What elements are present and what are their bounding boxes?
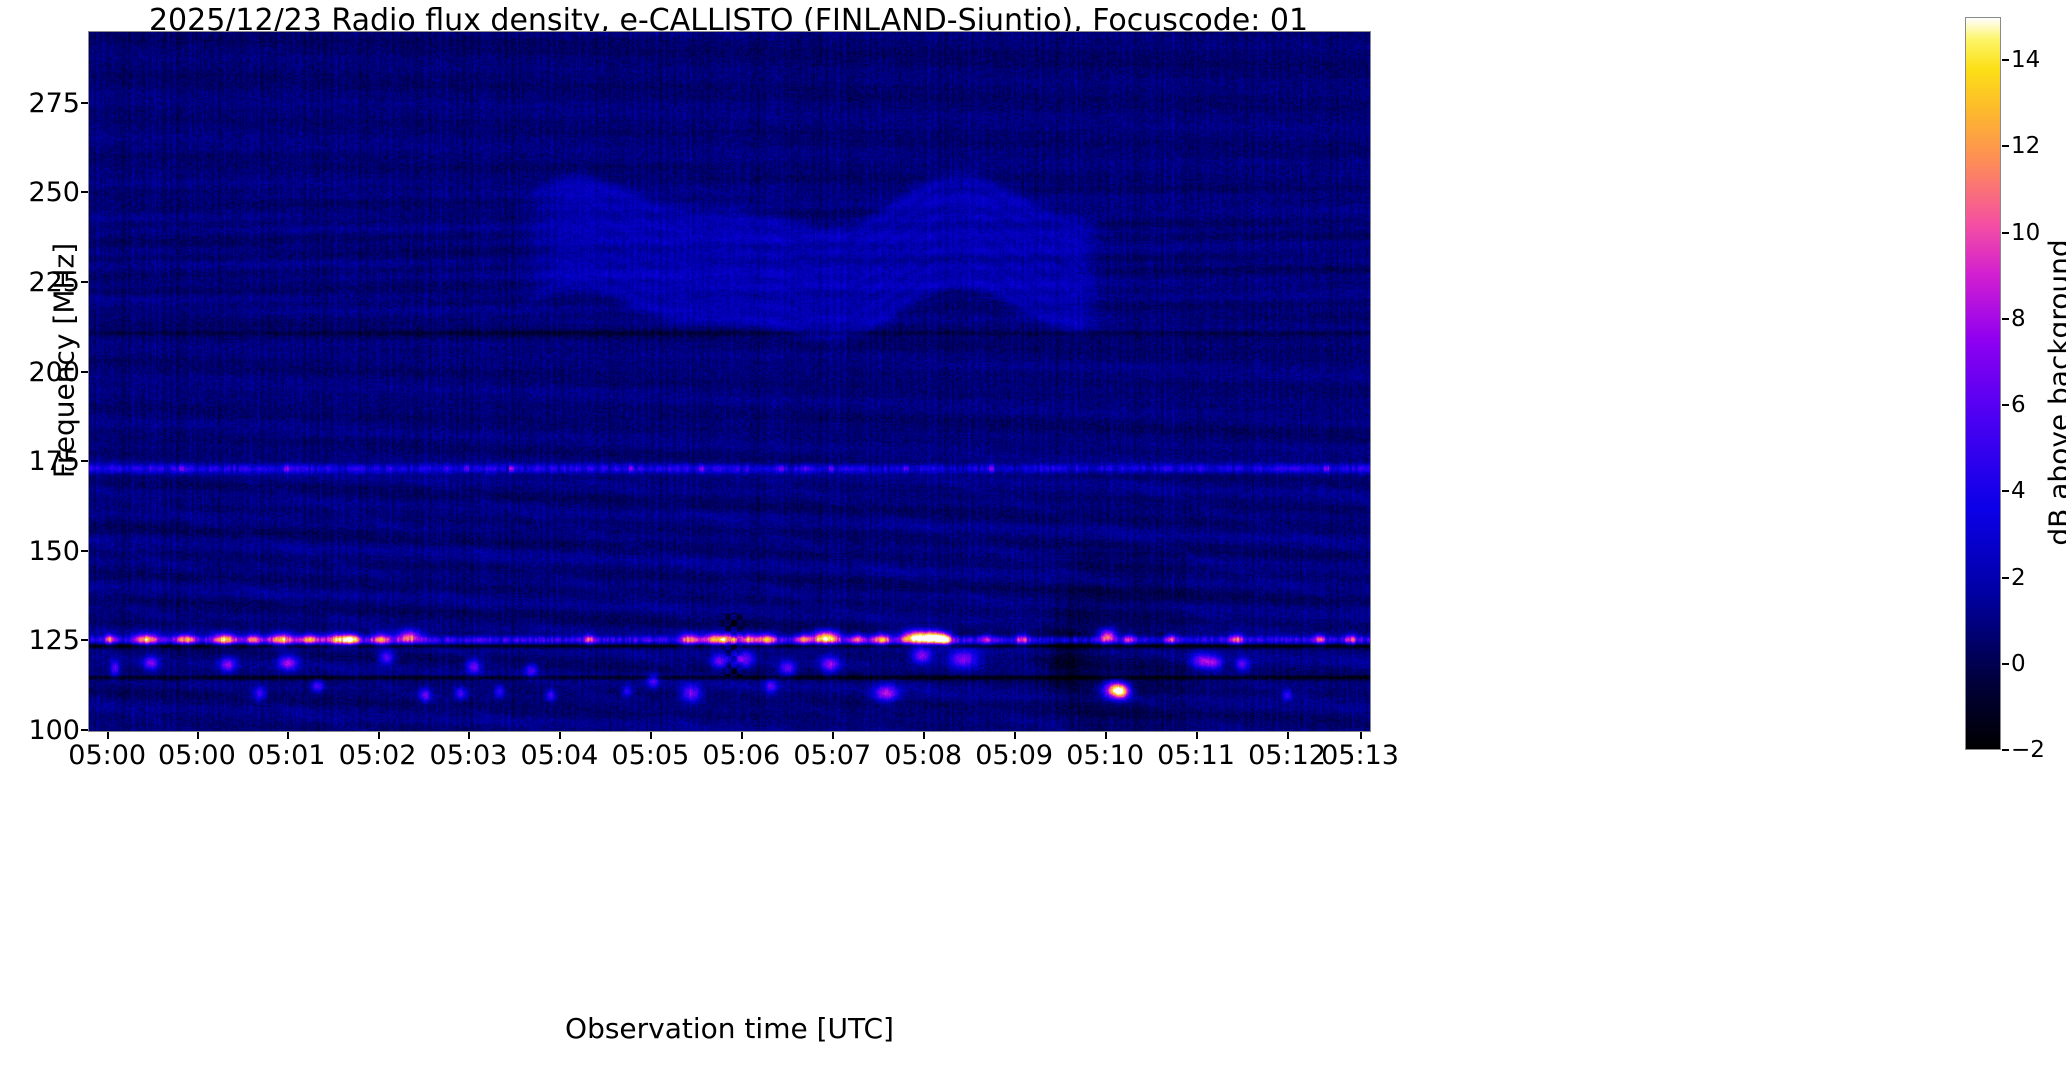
colorbar-tick-mark [2002, 404, 2009, 406]
spectrogram-heatmap[interactable] [89, 32, 1370, 731]
colorbar-tick-mark [2002, 490, 2009, 492]
y-axis-tick-mark [81, 102, 88, 104]
y-axis-tick-mark [81, 371, 88, 373]
colorbar-tick-label: 6 [2011, 394, 2026, 417]
colorbar-tick-label: 10 [2011, 222, 2040, 245]
x-axis-tick-mark [107, 732, 109, 739]
x-axis-tick-mark [741, 732, 743, 739]
y-axis-tick-mark [81, 729, 88, 731]
y-axis-tick-mark [81, 550, 88, 552]
x-axis-tick-label: 05:06 [702, 742, 780, 769]
y-axis-tick-mark [81, 639, 88, 641]
y-axis-label: Frequency [MHz] [48, 11, 81, 711]
colorbar-label: dB above background [2043, 73, 2066, 713]
x-axis-tick-mark [1360, 732, 1362, 739]
colorbar-tick-label: 14 [2011, 49, 2040, 72]
x-axis-tick-label: 05:02 [339, 742, 417, 769]
colorbar-tick-mark [2002, 318, 2009, 320]
colorbar-tick-label: 12 [2011, 135, 2040, 158]
colorbar-tick-label: 0 [2011, 653, 2026, 676]
x-axis-tick-label: 05:07 [793, 742, 871, 769]
x-axis-tick-label: 05:04 [521, 742, 599, 769]
x-axis-tick-label: 05:12 [1248, 742, 1326, 769]
colorbar-tick-label: 8 [2011, 308, 2026, 331]
y-axis-tick-mark [81, 281, 88, 283]
colorbar[interactable]: dB above background 14121086420−2 [1965, 17, 2065, 750]
colorbar-gradient [1965, 17, 2001, 750]
y-axis-tickmarks [88, 31, 98, 732]
x-axis-tick-mark [378, 732, 380, 739]
y-axis-tick-mark [81, 191, 88, 193]
x-axis-tick-mark [832, 732, 834, 739]
x-axis-tick-label: 05:05 [611, 742, 689, 769]
x-axis-tick-label: 05:00 [158, 742, 236, 769]
x-axis-tick-mark [650, 732, 652, 739]
x-axis-tick-mark [197, 732, 199, 739]
colorbar-tick-mark [2002, 749, 2009, 751]
x-axis-tick-label: 05:09 [975, 742, 1053, 769]
x-axis-tick-mark [559, 732, 561, 739]
colorbar-tick-mark [2002, 577, 2009, 579]
colorbar-tick-label: 4 [2011, 480, 2026, 503]
colorbar-tick-mark [2002, 59, 2009, 61]
x-axis-ticklabels: 05:0005:0005:0105:0205:0305:0405:0505:06… [88, 732, 1371, 782]
x-axis-tick-label: 05:00 [68, 742, 146, 769]
x-axis-tick-mark [1196, 732, 1198, 739]
y-axis-tick-mark [81, 460, 88, 462]
colorbar-tick-mark [2002, 145, 2009, 147]
x-axis-tick-label: 05:10 [1066, 742, 1144, 769]
x-axis-label: Observation time [UTC] [88, 1012, 1371, 1045]
colorbar-tick-mark [2002, 232, 2009, 234]
x-axis-tick-mark [1287, 732, 1289, 739]
x-axis-tick-mark [923, 732, 925, 739]
x-axis-tick-mark [1105, 732, 1107, 739]
x-axis-tick-label: 05:03 [430, 742, 508, 769]
x-axis-tick-mark [1014, 732, 1016, 739]
x-axis-tick-mark [287, 732, 289, 739]
colorbar-tick-label: 2 [2011, 567, 2026, 590]
x-axis-tick-label: 05:11 [1157, 742, 1235, 769]
colorbar-tick-label: −2 [2011, 739, 2045, 762]
colorbar-tick-mark [2002, 663, 2009, 665]
x-axis-tick-label: 05:01 [248, 742, 326, 769]
x-axis-tick-label: 05:08 [884, 742, 962, 769]
x-axis-tick-mark [468, 732, 470, 739]
spectrogram-axes[interactable] [88, 31, 1371, 732]
x-axis-tick-label: 05:13 [1321, 742, 1399, 769]
